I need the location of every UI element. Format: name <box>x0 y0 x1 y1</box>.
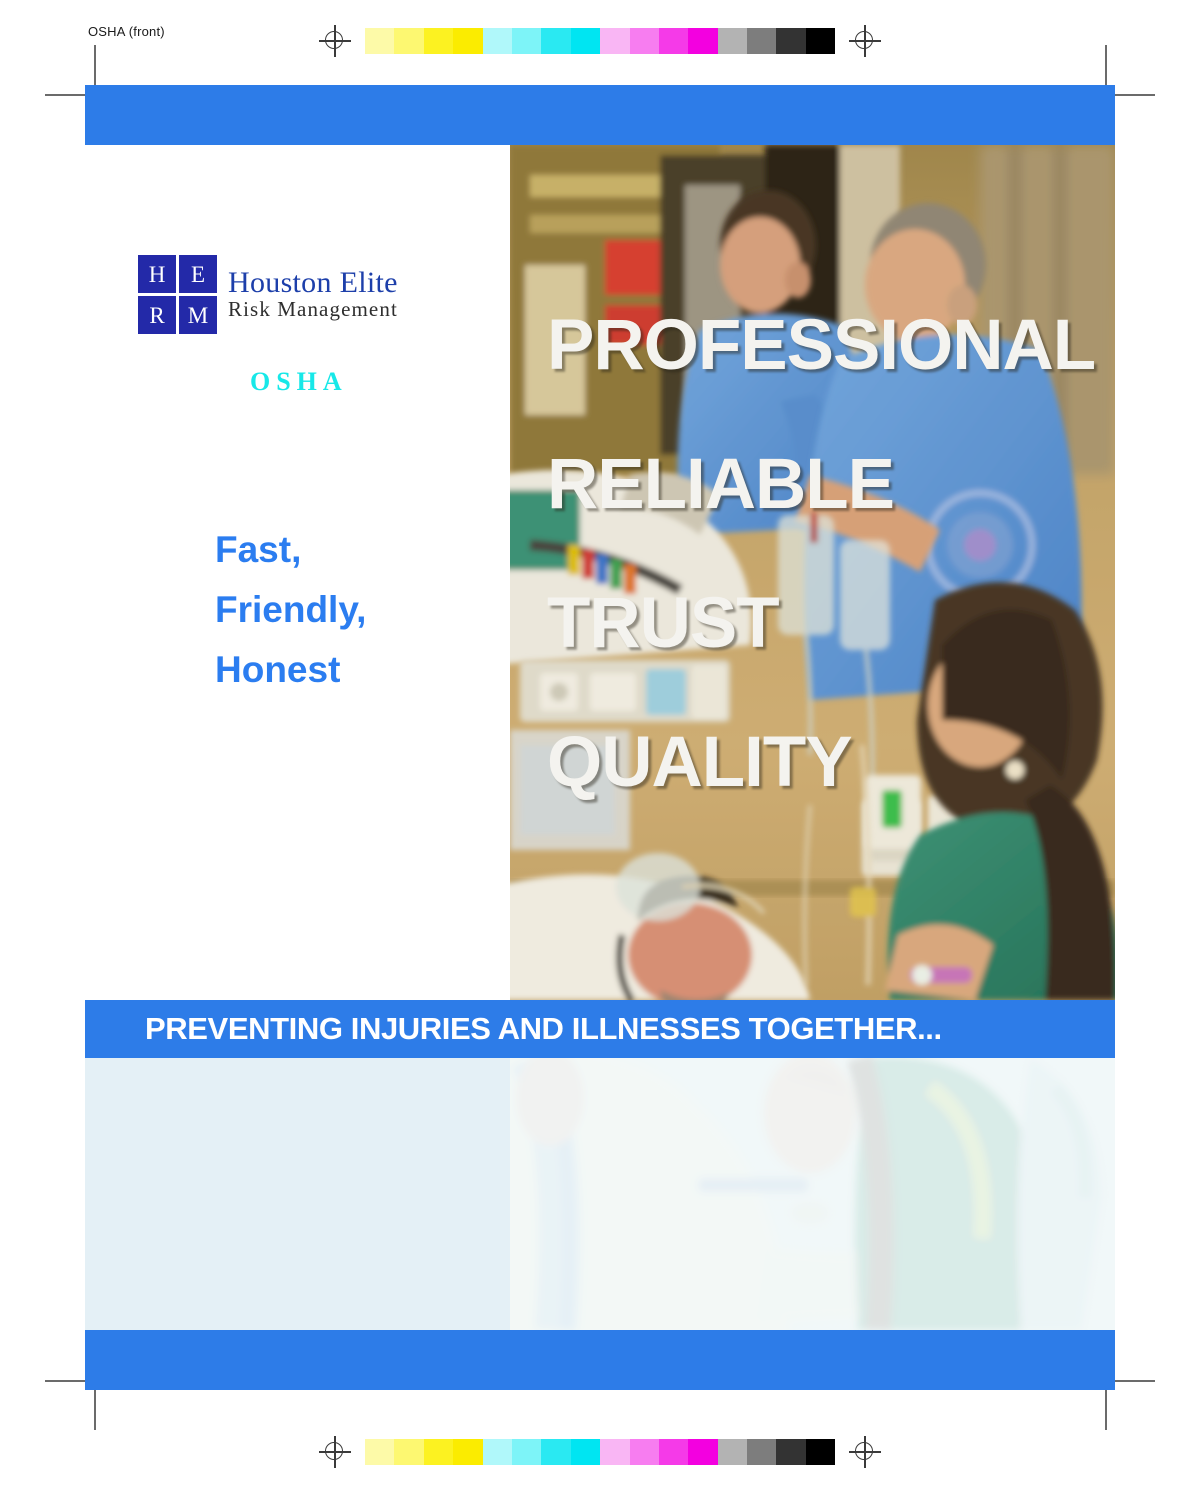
color-swatch-2 <box>424 1439 453 1465</box>
color-swatch-10 <box>659 28 688 54</box>
hero-word-quality: QUALITY <box>547 727 1087 798</box>
color-swatch-11 <box>688 1439 717 1465</box>
crop-mark <box>1105 45 1107 85</box>
lower-photo <box>510 1058 1115 1330</box>
registration-target-icon <box>318 24 352 58</box>
crop-mark <box>1105 1390 1107 1430</box>
color-swatch-7 <box>571 28 600 54</box>
hero-word-reliable: RELIABLE <box>547 449 1087 520</box>
banner-text: PREVENTING INJURIES AND ILLNESSES TOGETH… <box>145 1000 942 1058</box>
lower-left-panel <box>85 1058 510 1330</box>
crop-mark <box>1115 1380 1155 1382</box>
logo-wordmark: Houston Elite Risk Management <box>228 268 398 322</box>
color-calibration-bar-bottom <box>365 1439 835 1465</box>
lower-scene-illustration <box>510 1058 1115 1330</box>
color-swatch-9 <box>630 28 659 54</box>
color-swatch-1 <box>394 28 423 54</box>
registration-target-icon <box>848 24 882 58</box>
top-blue-bar <box>85 85 1115 145</box>
brochure-artboard: H E R M Houston Elite Risk Management OS… <box>85 85 1115 1390</box>
color-swatch-13 <box>747 1439 776 1465</box>
color-swatch-13 <box>747 28 776 54</box>
crop-mark <box>94 1390 96 1430</box>
monogram-cell-m: M <box>179 296 217 334</box>
color-swatch-14 <box>776 28 805 54</box>
bottom-blue-bar <box>85 1330 1115 1390</box>
proof-label: OSHA (front) <box>88 24 165 39</box>
color-swatch-11 <box>688 28 717 54</box>
color-swatch-12 <box>718 28 747 54</box>
color-calibration-bar-top <box>365 28 835 54</box>
crop-mark <box>45 1380 85 1382</box>
color-swatch-5 <box>512 28 541 54</box>
color-swatch-10 <box>659 1439 688 1465</box>
color-swatch-15 <box>806 28 835 54</box>
tagline-line-1: Fast, <box>215 520 366 580</box>
color-swatch-8 <box>600 1439 629 1465</box>
tagline-line-3: Honest <box>215 640 366 700</box>
color-swatch-4 <box>483 1439 512 1465</box>
color-swatch-9 <box>630 1439 659 1465</box>
color-swatch-5 <box>512 1439 541 1465</box>
crop-mark <box>94 45 96 85</box>
color-swatch-6 <box>541 1439 570 1465</box>
tagline-line-2: Friendly, <box>215 580 366 640</box>
registration-target-icon <box>848 1435 882 1469</box>
company-subtitle: Risk Management <box>228 298 398 321</box>
color-swatch-14 <box>776 1439 805 1465</box>
monogram-cell-r: R <box>138 296 176 334</box>
program-label-osha: OSHA <box>250 367 348 397</box>
color-swatch-3 <box>453 1439 482 1465</box>
logo-monogram-grid: H E R M <box>138 255 217 334</box>
company-logo: H E R M Houston Elite Risk Management <box>138 255 398 334</box>
color-swatch-0 <box>365 1439 394 1465</box>
color-swatch-2 <box>424 28 453 54</box>
crop-mark <box>45 94 85 96</box>
left-column: H E R M Houston Elite Risk Management OS… <box>85 145 510 1000</box>
tagline: Fast, Friendly, Honest <box>215 520 366 700</box>
color-swatch-4 <box>483 28 512 54</box>
monogram-cell-h: H <box>138 255 176 293</box>
registration-target-icon <box>318 1435 352 1469</box>
color-swatch-3 <box>453 28 482 54</box>
color-swatch-8 <box>600 28 629 54</box>
monogram-cell-e: E <box>179 255 217 293</box>
color-swatch-12 <box>718 1439 747 1465</box>
hero-word-trust: TRUST <box>547 588 1087 659</box>
color-swatch-6 <box>541 28 570 54</box>
color-swatch-1 <box>394 1439 423 1465</box>
company-name: Houston Elite <box>228 268 398 299</box>
hero-overlay-words: PROFESSIONAL RELIABLE TRUST QUALITY <box>547 310 1087 798</box>
crop-mark <box>1115 94 1155 96</box>
hero-word-professional: PROFESSIONAL <box>547 310 1087 381</box>
color-swatch-15 <box>806 1439 835 1465</box>
color-swatch-0 <box>365 28 394 54</box>
hero-photo: PROFESSIONAL RELIABLE TRUST QUALITY <box>510 145 1115 1000</box>
color-swatch-7 <box>571 1439 600 1465</box>
